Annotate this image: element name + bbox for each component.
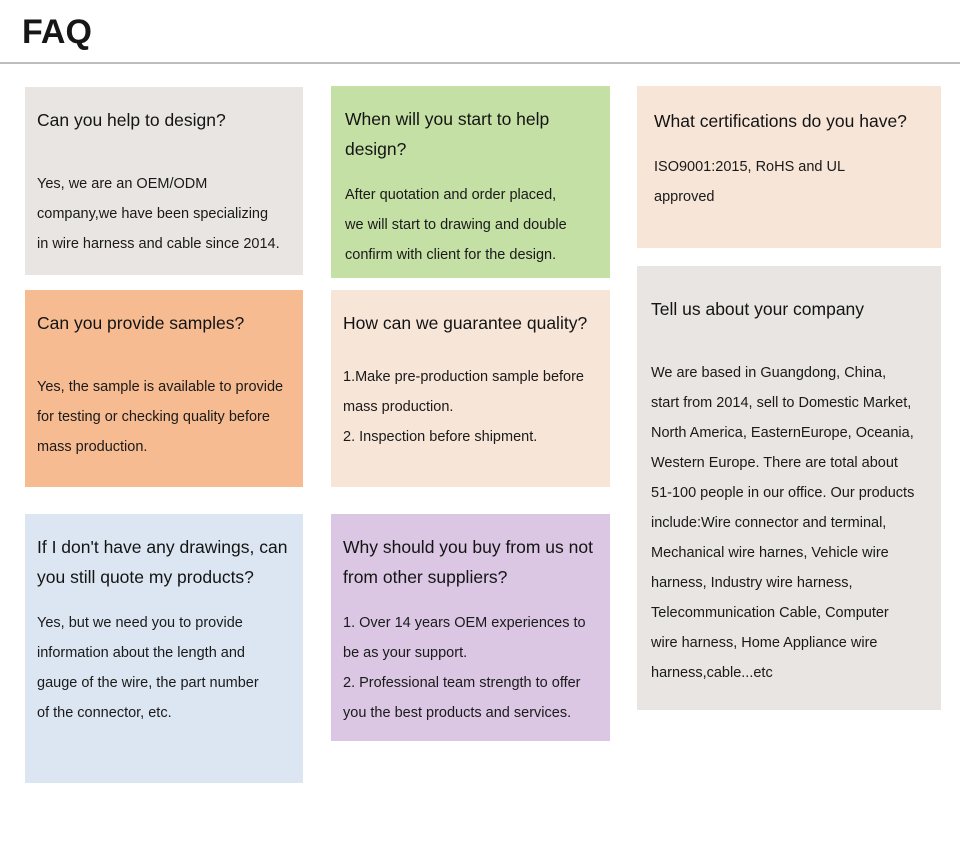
faq-question: Why should you buy from us not from othe… [343, 532, 598, 592]
spacer [654, 136, 927, 152]
faq-answer: After quotation and order placed, we wil… [345, 180, 596, 270]
spacer [37, 135, 289, 169]
faq-card-if-i-dont-have-any-drawings: If I don't have any drawings, can you st… [25, 514, 303, 783]
page-title: FAQ [22, 10, 92, 54]
faq-answer: Yes, but we need you to provide informat… [37, 608, 291, 728]
faq-card-how-can-we-guarantee-quality: How can we guarantee quality? 1.Make pre… [331, 290, 610, 487]
faq-question: If I don't have any drawings, can you st… [37, 532, 291, 592]
spacer [345, 164, 596, 180]
faq-question: Can you provide samples? [37, 308, 291, 338]
faq-page: FAQ Can you help to design? Yes, we are … [0, 0, 960, 842]
spacer [343, 592, 598, 608]
faq-card-when-will-you-start-to-help-design: When will you start to help design? Afte… [331, 86, 610, 278]
faq-question: What certifications do you have? [654, 106, 927, 136]
spacer [343, 338, 598, 362]
faq-answer: 1.Make pre-production sample before mass… [343, 362, 598, 452]
faq-answer: 1. Over 14 years OEM experiences to be a… [343, 608, 598, 728]
spacer [651, 324, 927, 358]
title-divider [0, 62, 960, 64]
faq-card-tell-us-about-your-company: Tell us about your company We are based … [637, 266, 941, 710]
faq-answer: Yes, we are an OEM/ODM company,we have b… [37, 169, 289, 259]
faq-answer: We are based in Guangdong, China, start … [651, 358, 927, 688]
faq-card-can-you-help-to-design: Can you help to design? Yes, we are an O… [25, 87, 303, 275]
spacer [37, 338, 291, 372]
faq-question: When will you start to help design? [345, 104, 596, 164]
faq-answer: ISO9001:2015, RoHS and UL approved [654, 152, 927, 212]
faq-card-what-certifications-do-you-have: What certifications do you have? ISO9001… [637, 86, 941, 248]
faq-card-why-should-you-buy-from-us: Why should you buy from us not from othe… [331, 514, 610, 741]
spacer [37, 592, 291, 608]
faq-question: Can you help to design? [37, 105, 289, 135]
faq-card-can-you-provide-samples: Can you provide samples? Yes, the sample… [25, 290, 303, 487]
faq-question: How can we guarantee quality? [343, 308, 598, 338]
faq-answer: Yes, the sample is available to provide … [37, 372, 291, 462]
faq-question: Tell us about your company [651, 294, 927, 324]
